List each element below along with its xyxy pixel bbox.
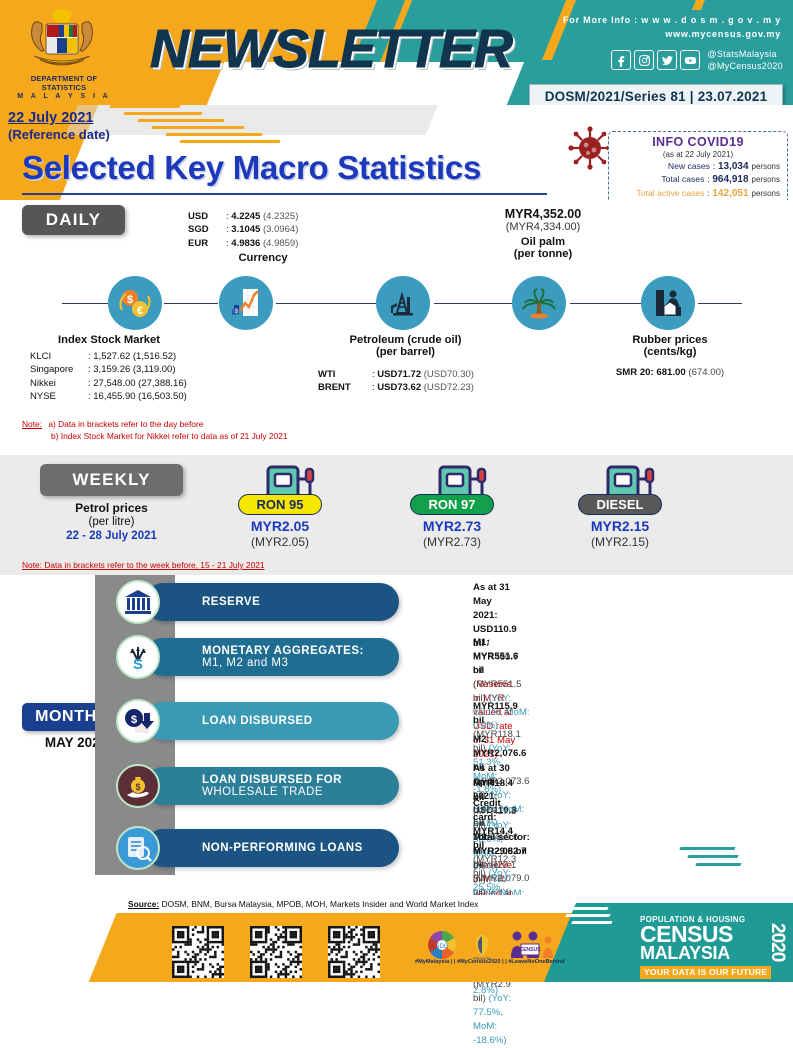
oilpalm-heading-1: Oil palm [478, 236, 608, 248]
rubber-block: Rubber prices (cents/kg) SMR 20: 681.00 … [590, 334, 750, 378]
monthly-item-label: RESERVE [202, 596, 260, 608]
rubber-value-row: SMR 20: 681.00 (674.00) [590, 367, 750, 378]
monthly-item-label-2: WHOLESALE TRADE [202, 786, 342, 798]
department-name: DEPARTMENT OF STATISTICS M A L A Y S I A [14, 74, 114, 102]
daily-note-b: b) Index Stock Market for Nikkei refer t… [51, 430, 287, 442]
petrol-label-line3: 22 - 28 July 2021 [40, 530, 183, 542]
monthly-value-main: Total sector: MYR29.6 bil [473, 832, 530, 857]
daily-note-title: Note: [22, 419, 42, 429]
qr-code-facebook[interactable] [250, 926, 302, 978]
oilpalm-value: MYR4,352.00 [478, 207, 608, 221]
malaysia-prihatin-icon: PRIHATIN [465, 928, 499, 962]
oilpalm-heading-2: (per tonne) [478, 248, 608, 260]
qr-code-mycensus[interactable] [328, 926, 380, 978]
covid-unit: persons [752, 189, 780, 198]
npl-document-icon [116, 826, 160, 870]
loan-dollar-icon: $ [116, 699, 160, 743]
currency-exchange-icon: $ € [108, 276, 162, 330]
monthly-item-pill[interactable]: LOAN DISBURSED FORWHOLESALE TRADE [144, 767, 399, 805]
connector-line-6 [698, 303, 742, 304]
page-title: Selected Key Macro Statistics [22, 149, 481, 187]
stock-row: Nikkei: 27,548.00 (27,388.16) [30, 377, 204, 390]
petroleum-block: Petroleum (crude oil) (per barrel) WTI: … [318, 334, 493, 395]
fuel-price-prev: (MYR2.15) [570, 535, 670, 549]
page-header: DEPARTMENT OF STATISTICS M A L A Y S I A… [0, 0, 793, 105]
covid-row: Total active cases:142,051persons [609, 188, 787, 199]
currency-rate: 3.1045 [231, 224, 260, 235]
monthly-item-pill[interactable]: RESERVE [144, 583, 399, 621]
sdg-wheel-icon: SDG [425, 928, 459, 962]
hashtags: #MyMalaysia | | #MyCensus2020 | | #Leave… [415, 959, 565, 965]
reference-date-label: (Reference date) [8, 127, 110, 142]
daily-tag: DAILY [22, 205, 125, 235]
oilpalm-block: MYR4,352.00 (MYR4,334.00) Oil palm (per … [478, 207, 608, 260]
petroleum-price: USD73.62 [377, 382, 421, 393]
weekly-note: Note: Data in brackets refer to the week… [22, 559, 265, 571]
stock-index-name: Singapore [30, 363, 88, 376]
source-label: Source: [128, 899, 159, 909]
census-family-icon: CENSUS [505, 928, 565, 962]
svg-text:S: S [133, 656, 143, 673]
fuel-grade-badge: DIESEL [578, 494, 662, 515]
money-growth-icon: S [116, 635, 160, 679]
fuel-price: MYR2.15 [570, 518, 670, 534]
monthly-item-label: MONETARY AGGREGATES: [202, 645, 364, 657]
petroleum-prev: (USD72.23) [424, 382, 474, 393]
stock-index-name: Nikkei [30, 377, 88, 390]
daily-note-a: a) Data in brackets refer to the day bef… [48, 419, 203, 429]
rubber-value: SMR 20: 681.00 [616, 367, 686, 378]
connector-line-3 [276, 303, 376, 304]
qr-code-dosm[interactable] [172, 926, 224, 978]
weekly-note-text: Note: Data in brackets refer to the week… [22, 560, 265, 570]
stock-index-name: NYSE [30, 390, 88, 403]
fuel-price: MYR2.73 [402, 518, 502, 534]
fuel-grade-badge: RON 97 [410, 494, 494, 515]
monthly-item-pill[interactable]: MONETARY AGGREGATES:M1, M2 and M3 [144, 638, 399, 676]
stock-index-value: : 3,159.26 (3,119.00) [88, 363, 176, 376]
petroleum-prev: (USD70.30) [424, 369, 474, 380]
coronavirus-icon [568, 126, 612, 170]
connector-line-2 [164, 303, 218, 304]
department-line-2: M A L A Y S I A [14, 93, 114, 102]
svg-text:$: $ [131, 714, 137, 726]
svg-text:CENSUS: CENSUS [520, 947, 542, 953]
monthly-item-label: LOAN DISBURSED FOR [202, 774, 342, 786]
covid-subtitle: (as at 22 July 2021) [609, 150, 787, 159]
weekly-section: WEEKLY Petrol prices (per litre) 22 - 28… [0, 455, 793, 575]
petroleum-grade: BRENT [318, 381, 372, 394]
monthly-value-main: MYR115.9 bil [473, 701, 518, 726]
department-line-1: DEPARTMENT OF STATISTICS [14, 74, 114, 93]
currency-heading: Currency [188, 252, 338, 264]
monthly-item-pill[interactable]: LOAN DISBURSED [144, 702, 399, 740]
monthly-item-label-2: M1, M2 and M3 [202, 657, 364, 669]
connector-line-5 [570, 303, 642, 304]
currency-prev: (4.2325) [263, 211, 298, 222]
rubber-heading-1: Rubber prices [590, 334, 750, 346]
covid-label: Total cases [620, 174, 704, 184]
rubber-prev: (674.00) [688, 367, 724, 378]
covid-value: 13,034 [718, 161, 749, 172]
newsletter-page: DEPARTMENT OF STATISTICS M A L A Y S I A… [0, 0, 793, 982]
currency-rate: 4.9836 [231, 238, 260, 249]
fuel-grade-badge: RON 95 [238, 494, 322, 515]
covid-label: Total active cases [620, 188, 704, 198]
covid-unit: persons [752, 162, 780, 171]
more-info-block: For More Info : w w w . d o s m . g o v … [563, 14, 781, 41]
petroleum-row: WTI: USD71.72 (USD70.30) [318, 368, 493, 381]
currency-row: EUR: 4.9836 (4.9859) [188, 237, 338, 250]
handle-stats-malaysia: @StatsMalaysia [707, 48, 783, 60]
oil-rig-icon [376, 276, 430, 330]
currency-block: USD: 4.2245 (4.2325)SGD: 3.1045 (3.0964)… [188, 210, 338, 264]
svg-text:$: $ [135, 782, 140, 792]
covid-value: 142,051 [712, 188, 748, 199]
stock-index-value: : 27,548.00 (27,388.16) [88, 377, 187, 390]
monthly-value-main: MYR18.4 bil [473, 778, 513, 803]
fuel-price-prev: (MYR2.05) [230, 535, 330, 549]
census-year: 2020 [766, 923, 788, 961]
above-footer-lines [660, 845, 790, 885]
census-tagline: YOUR DATA IS OUR FUTURE [640, 966, 771, 979]
instagram-icon[interactable] [634, 50, 654, 70]
connector-line-4 [434, 303, 512, 304]
title-divider [22, 193, 547, 195]
daily-section: DAILY USD: 4.2245 (4.2325)SGD: 3.1045 (3… [0, 200, 793, 455]
reference-date: 22 July 2021 [8, 110, 93, 126]
mycensus-website-link[interactable]: www.mycensus.gov.my [563, 28, 781, 42]
covid-value: 964,918 [712, 174, 748, 185]
series-badge: DOSM/2021/Series 81 | 23.07.2021 [529, 84, 783, 105]
currency-code: USD [188, 210, 226, 223]
stock-row: Singapore: 3,159.26 (3,119.00) [30, 363, 204, 376]
stock-index-value: : 16,455.90 (16,503.50) [88, 390, 187, 403]
partner-logos: SDG PRIHATIN CENSUS [425, 928, 565, 962]
currency-code: EUR [188, 237, 226, 250]
covid-title: INFO COVID19 [609, 135, 787, 149]
stock-row: NYSE: 16,455.90 (16,503.50) [30, 390, 204, 403]
weekly-tag: WEEKLY [40, 464, 183, 496]
covid-unit: persons [752, 175, 780, 184]
palm-tree-icon [512, 276, 566, 330]
dosm-website-link[interactable]: For More Info : w w w . d o s m . g o v … [563, 14, 781, 28]
petroleum-grade: WTI [318, 368, 372, 381]
currency-prev: (3.0964) [263, 224, 298, 235]
currency-row: SGD: 3.1045 (3.0964) [188, 223, 338, 236]
monthly-item-label: NON-PERFORMING LOANS [202, 842, 363, 854]
stock-index-name: KLCI [30, 350, 88, 363]
facebook-icon[interactable] [611, 50, 631, 70]
social-handles: @StatsMalaysia @MyCensus2020 [707, 48, 783, 72]
covid-row: Total cases:964,918persons [609, 174, 787, 185]
currency-code: SGD [188, 223, 226, 236]
bank-building-icon [116, 580, 160, 624]
covid-label: New cases [626, 161, 710, 171]
social-media-row: @StatsMalaysia @MyCensus2020 [611, 48, 783, 72]
petrol-label-line2: (per litre) [40, 516, 183, 528]
currency-prev: (4.9859) [263, 238, 298, 249]
fuel-price-prev: (MYR2.73) [402, 535, 502, 549]
stock-block: Index Stock Market KLCI: 1,527.62 (1,516… [14, 334, 204, 404]
svg-text:$: $ [127, 294, 133, 306]
petroleum-price: USD71.72 [377, 369, 421, 380]
petrol-prices-label: Petrol prices (per litre) 22 - 28 July 2… [40, 501, 183, 542]
rubber-heading-2: (cents/kg) [590, 346, 750, 358]
covid-row: New cases:13,034persons [609, 161, 787, 172]
oilpalm-prev: (MYR4,334.00) [478, 221, 608, 233]
monthly-item-pill[interactable]: NON-PERFORMING LOANS [144, 829, 399, 867]
money-bag-hand-icon: $ [116, 764, 160, 808]
svg-text:SDG: SDG [435, 944, 448, 950]
source-text: DOSM, BNM, Bursa Malaysia, MPOB, MOH, Ma… [159, 899, 478, 909]
daily-notes: Note: a) Data in brackets refer to the d… [22, 418, 287, 442]
fuel-price: MYR2.05 [230, 518, 330, 534]
monthly-value-main: M1: MYR551.6 bil [473, 637, 518, 676]
newsletter-wordmark: NEWSLETTER [150, 18, 512, 80]
stock-index-value: : 1,527.62 (1,516.52) [88, 350, 176, 363]
stock-row: KLCI: 1,527.62 (1,516.52) [30, 350, 204, 363]
currency-row: USD: 4.2245 (4.2325) [188, 210, 338, 223]
svg-text:€: € [137, 305, 143, 317]
monthly-item-label: LOAN DISBURSED [202, 715, 313, 727]
currency-rate: 4.2245 [231, 211, 260, 222]
malaysia-coat-of-arms-icon [16, 6, 108, 76]
petrol-label-line1: Petrol prices [40, 501, 183, 515]
petroleum-row: BRENT: USD73.62 (USD72.23) [318, 381, 493, 394]
rubber-tapping-icon [641, 276, 695, 330]
header-accent-stripe-2 [692, 0, 717, 10]
source-line: Source: DOSM, BNM, Bursa Malaysia, MPOB,… [128, 899, 478, 909]
handle-mycensus2020: @MyCensus2020 [707, 60, 783, 72]
stock-heading: Index Stock Market [14, 334, 204, 346]
twitter-icon[interactable] [657, 50, 677, 70]
petroleum-heading-2: (per barrel) [318, 346, 493, 358]
youtube-icon[interactable] [680, 50, 700, 70]
connector-line-1 [62, 303, 108, 304]
census-banner: POPULATION & HOUSING CENSUS MALAYSIA 202… [640, 915, 790, 980]
stock-chart-icon: $ [219, 276, 273, 330]
petroleum-heading-1: Petroleum (crude oil) [318, 334, 493, 346]
